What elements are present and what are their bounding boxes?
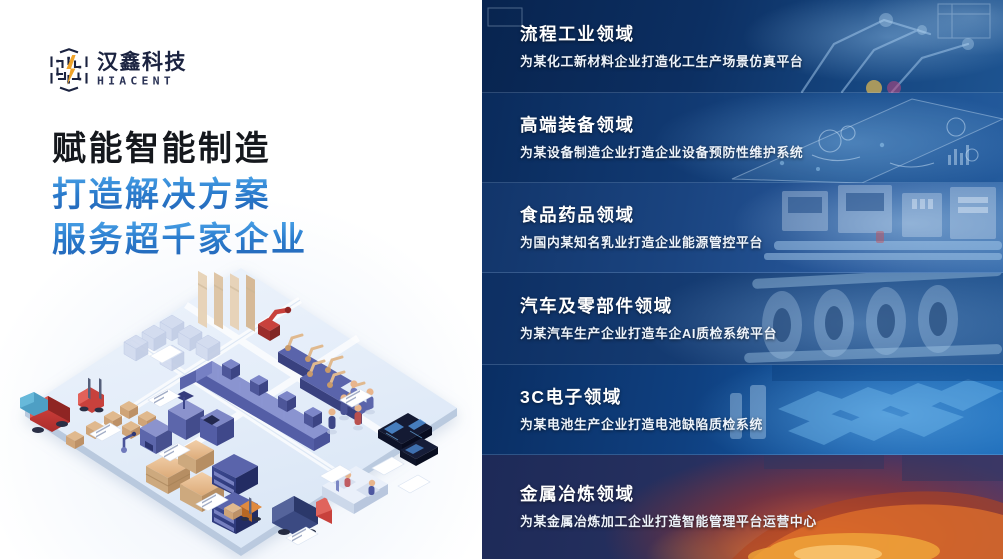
sector-title-3: 汽车及零部件领域 bbox=[520, 296, 1003, 317]
sector-title-1: 高端装备领域 bbox=[520, 115, 1003, 136]
row-divider-4 bbox=[482, 454, 1003, 455]
left-panel: 汉鑫科技 HIACENT 赋能智能制造 打造解决方案 服务超千家企业 bbox=[0, 0, 482, 559]
sector-row-food-pharma[interactable]: 食品药品领域 为国内某知名乳业打造企业能源管控平台 bbox=[482, 183, 1003, 273]
headline-block: 赋能智能制造 打造解决方案 服务超千家企业 bbox=[52, 128, 308, 263]
sector-subtitle-1: 为某设备制造企业打造企业设备预防性维护系统 bbox=[520, 145, 1003, 161]
sector-title-2: 食品药品领域 bbox=[520, 205, 1003, 226]
sector-text-4: 3C电子领域 为某电池生产企业打造电池缺陷质检系统 bbox=[520, 387, 1003, 433]
sector-row-high-end-equipment[interactable]: 高端装备领域 为某设备制造企业打造企业设备预防性维护系统 bbox=[482, 93, 1003, 183]
sector-row-3c-electronics[interactable]: 3C电子领域 为某电池生产企业打造电池缺陷质检系统 bbox=[482, 365, 1003, 455]
isometric-smart-factory-illustration bbox=[0, 252, 482, 559]
hexagon-circuit-logo-icon bbox=[48, 48, 90, 92]
brand-name-cn: 汉鑫科技 bbox=[97, 52, 187, 73]
sector-row-automotive-parts[interactable]: 汽车及零部件领域 为某汽车生产企业打造车企AI质检系统平台 bbox=[482, 273, 1003, 365]
headline-line-1: 赋能智能制造 bbox=[52, 128, 308, 172]
sector-subtitle-0: 为某化工新材料企业打造化工生产场景仿真平台 bbox=[520, 54, 1003, 70]
sector-subtitle-3: 为某汽车生产企业打造车企AI质检系统平台 bbox=[520, 326, 1003, 342]
brand-name-en: HIACENT bbox=[97, 77, 187, 88]
sector-text-2: 食品药品领域 为国内某知名乳业打造企业能源管控平台 bbox=[520, 205, 1003, 251]
factory-scene-svg bbox=[0, 252, 482, 559]
row-divider-0 bbox=[482, 92, 1003, 93]
sector-title-0: 流程工业领域 bbox=[520, 24, 1003, 45]
sector-title-4: 3C电子领域 bbox=[520, 387, 1003, 408]
sector-subtitle-5: 为某金属冶炼加工企业打造智能管理平台运营中心 bbox=[520, 514, 1003, 530]
sector-list-panel: 流程工业领域 为某化工新材料企业打造化工生产场景仿真平台 bbox=[482, 0, 1003, 559]
sector-title-5: 金属冶炼领域 bbox=[520, 484, 1003, 505]
sector-subtitle-4: 为某电池生产企业打造电池缺陷质检系统 bbox=[520, 417, 1003, 433]
sector-row-metal-smelting[interactable]: 金属冶炼领域 为某金属冶炼加工企业打造智能管理平台运营中心 bbox=[482, 455, 1003, 559]
row-divider-1 bbox=[482, 182, 1003, 183]
sector-text-1: 高端装备领域 为某设备制造企业打造企业设备预防性维护系统 bbox=[520, 115, 1003, 161]
sector-text-0: 流程工业领域 为某化工新材料企业打造化工生产场景仿真平台 bbox=[520, 24, 1003, 70]
sector-row-process-industry[interactable]: 流程工业领域 为某化工新材料企业打造化工生产场景仿真平台 bbox=[482, 0, 1003, 93]
sector-text-5: 金属冶炼领域 为某金属冶炼加工企业打造智能管理平台运营中心 bbox=[520, 484, 1003, 530]
brand-wordmark: 汉鑫科技 HIACENT bbox=[97, 52, 187, 88]
row-divider-2 bbox=[482, 272, 1003, 273]
row-divider-3 bbox=[482, 364, 1003, 365]
sector-subtitle-2: 为国内某知名乳业打造企业能源管控平台 bbox=[520, 235, 1003, 251]
headline-line-2: 打造解决方案 bbox=[52, 174, 308, 218]
sector-text-3: 汽车及零部件领域 为某汽车生产企业打造车企AI质检系统平台 bbox=[520, 296, 1003, 342]
slide-root: 汉鑫科技 HIACENT 赋能智能制造 打造解决方案 服务超千家企业 bbox=[0, 0, 1003, 559]
brand-logo: 汉鑫科技 HIACENT bbox=[48, 48, 187, 92]
